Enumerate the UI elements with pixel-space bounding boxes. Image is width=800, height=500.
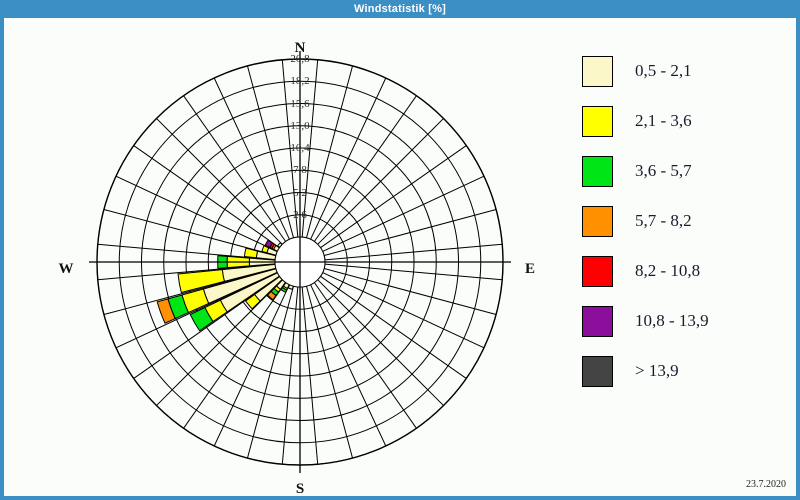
legend-item-label: 10,8 - 13,9 <box>635 311 709 331</box>
windrose-plot: N S W E 2,65,27,810,413,015,618,220,8 <box>4 18 604 496</box>
radial-tick-label: 20,8 <box>278 53 322 65</box>
compass-label-east: E <box>500 261 560 278</box>
radial-tick-label: 10,4 <box>278 142 322 154</box>
legend-item-label: 3,6 - 5,7 <box>635 161 692 181</box>
radial-tick-label: 13,0 <box>278 120 322 132</box>
compass-label-west: W <box>36 261 96 278</box>
radial-tick-label: 5,2 <box>278 187 322 199</box>
legend: 0,5 - 2,12,1 - 3,63,6 - 5,75,7 - 8,28,2 … <box>582 36 796 396</box>
legend-item-label: 0,5 - 2,1 <box>635 61 692 81</box>
legend-color-swatch <box>582 206 613 237</box>
radial-tick-label: 7,8 <box>278 164 322 176</box>
legend-color-swatch <box>582 106 613 137</box>
legend-item[interactable]: 0,5 - 2,1 <box>582 54 692 88</box>
legend-color-swatch <box>582 356 613 387</box>
page-title: Windstatistik [%] <box>354 3 446 15</box>
legend-item[interactable]: 3,6 - 5,7 <box>582 154 692 188</box>
radial-tick-label: 15,6 <box>278 98 322 110</box>
windrose-petals <box>157 240 293 331</box>
date-stamp: 23.7.2020 <box>746 479 786 490</box>
polar-axes <box>89 51 511 473</box>
legend-item-label: 8,2 - 10,8 <box>635 261 700 281</box>
legend-color-swatch <box>582 306 613 337</box>
radial-tick-label: 2,6 <box>278 209 322 221</box>
compass-label-south: S <box>270 481 330 496</box>
legend-item-label: 2,1 - 3,6 <box>635 111 692 131</box>
windrose-svg <box>4 18 604 496</box>
legend-item[interactable]: > 13,9 <box>582 354 679 388</box>
legend-item-label: 5,7 - 8,2 <box>635 211 692 231</box>
chart-canvas: N S W E 2,65,27,810,413,015,618,220,8 0,… <box>4 18 796 496</box>
legend-item[interactable]: 5,7 - 8,2 <box>582 204 692 238</box>
window-title-bar: Windstatistik [%] <box>0 0 800 17</box>
legend-color-swatch <box>582 56 613 87</box>
legend-item[interactable]: 8,2 - 10,8 <box>582 254 700 288</box>
legend-item[interactable]: 10,8 - 13,9 <box>582 304 709 338</box>
legend-color-swatch <box>582 156 613 187</box>
legend-item[interactable]: 2,1 - 3,6 <box>582 104 692 138</box>
legend-color-swatch <box>582 256 613 287</box>
legend-item-label: > 13,9 <box>635 361 679 381</box>
radial-tick-label: 18,2 <box>278 75 322 87</box>
application-window: Windstatistik [%] N S W E 2,65,27,810,41… <box>0 0 800 500</box>
